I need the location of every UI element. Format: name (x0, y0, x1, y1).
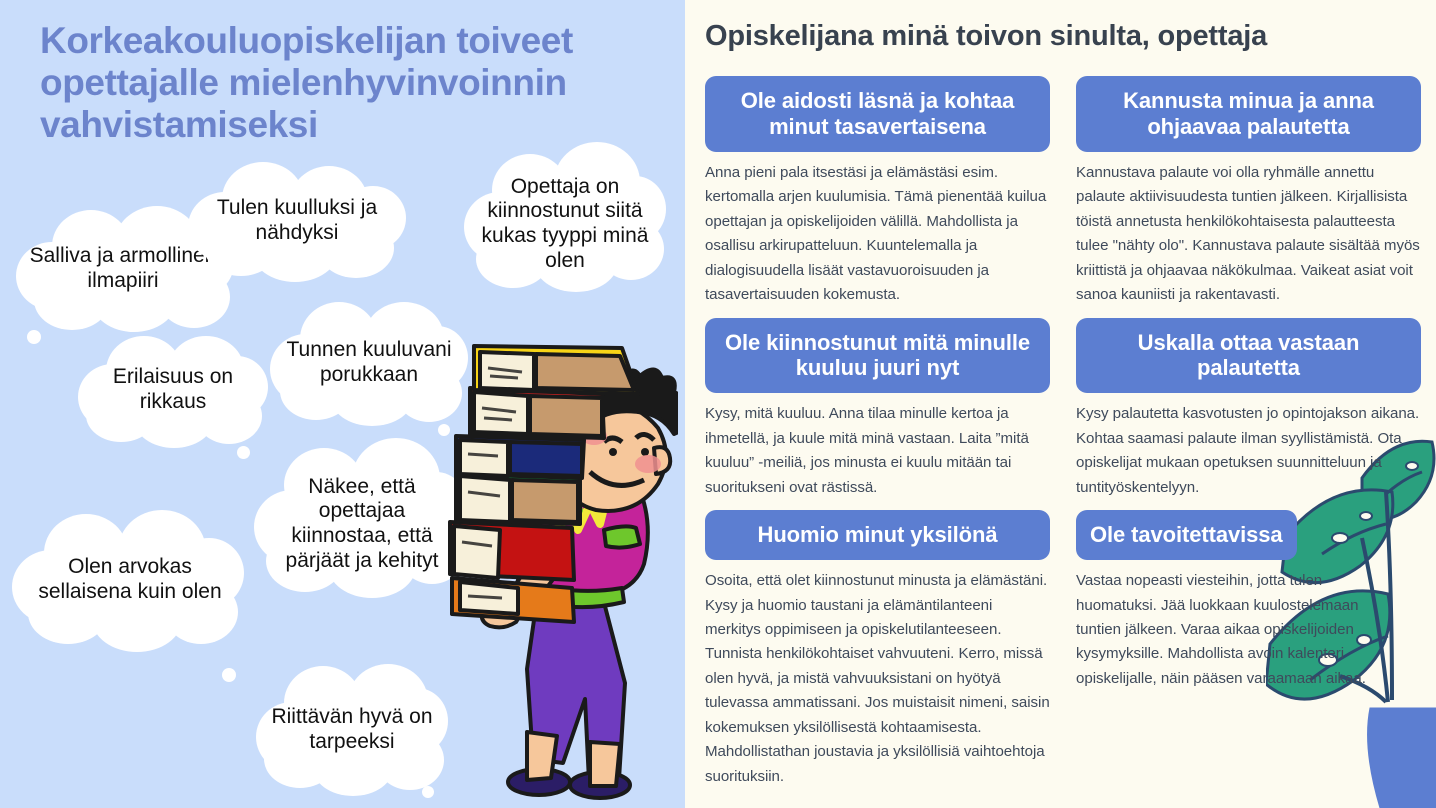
thought-bubble-opettaja-kiinnostunut: Opettaja on kiinnostunut siitä kukas tyy… (470, 156, 660, 292)
advice-card-heading[interactable]: Ole kiinnostunut mitä minulle kuuluu juu… (705, 318, 1050, 394)
left-panel-title: Korkeakouluopiskelijan toiveet opettajal… (40, 20, 660, 145)
advice-card-heading[interactable]: Ole tavoitettavissa (1076, 510, 1297, 560)
advice-cards-grid: Ole aidosti läsnä ja kohtaa minut tasave… (705, 76, 1421, 799)
thought-bubble-tulen-kuulluksi: Tulen kuulluksi ja nähdyksi (192, 168, 402, 274)
advice-card-1: Ole aidosti läsnä ja kohtaa minut tasave… (705, 76, 1050, 308)
advice-card-6: Ole tavoitettavissa Vastaa nopeasti vies… (1076, 510, 1421, 789)
left-panel: Korkeakouluopiskelijan toiveet opettajal… (0, 0, 685, 808)
advice-card-body: Kysy, mitä kuuluu. Anna tilaa minulle ke… (705, 402, 1050, 500)
thought-bubble-tail (27, 330, 41, 344)
infographic-poster: Korkeakouluopiskelijan toiveet opettajal… (0, 0, 1436, 808)
advice-card-2: Kannusta minua ja anna ohjaavaa palautet… (1076, 76, 1421, 308)
thought-bubble-olen-arvokas: Olen arvokas sellaisena kuin olen (20, 520, 240, 640)
advice-card-5: Huomio minut yksilönä Osoita, että olet … (705, 510, 1050, 789)
boy-with-books-illustration (408, 330, 678, 808)
advice-card-body: Osoita, että olet kiinnostunut minusta j… (705, 569, 1050, 789)
advice-card-4: Uskalla ottaa vastaan palautetta Kysy pa… (1076, 318, 1421, 501)
advice-card-heading[interactable]: Huomio minut yksilönä (705, 510, 1050, 560)
thought-bubble-label: Tulen kuulluksi ja nähdyksi (192, 196, 402, 245)
thought-bubble-label: Erilaisuus on rikkaus (84, 365, 262, 414)
advice-card-body: Anna pieni pala itsestäsi ja elämästäsi … (705, 161, 1050, 308)
thought-bubble-tail (237, 446, 250, 459)
advice-card-body: Kannustava palaute voi olla ryhmälle ann… (1076, 161, 1421, 308)
advice-card-body: Kysy palautetta kasvotusten jo opintojak… (1076, 402, 1421, 500)
advice-card-heading[interactable]: Ole aidosti läsnä ja kohtaa minut tasave… (705, 76, 1050, 152)
thought-bubble-erilaisuus: Erilaisuus on rikkaus (84, 340, 262, 440)
advice-card-3: Ole kiinnostunut mitä minulle kuuluu juu… (705, 318, 1050, 501)
thought-bubble-label: Opettaja on kiinnostunut siitä kukas tyy… (470, 175, 660, 273)
advice-card-heading[interactable]: Uskalla ottaa vastaan palautetta (1076, 318, 1421, 394)
right-panel-title: Opiskelijana minä toivon sinulta, opetta… (705, 20, 1267, 53)
advice-card-body: Vastaa nopeasti viesteihin, jotta tulen … (1076, 569, 1376, 691)
advice-card-heading[interactable]: Kannusta minua ja anna ohjaavaa palautet… (1076, 76, 1421, 152)
right-panel: Opiskelijana minä toivon sinulta, opetta… (685, 0, 1436, 808)
thought-bubble-tail (222, 668, 236, 682)
thought-bubble-label: Olen arvokas sellaisena kuin olen (20, 555, 240, 604)
